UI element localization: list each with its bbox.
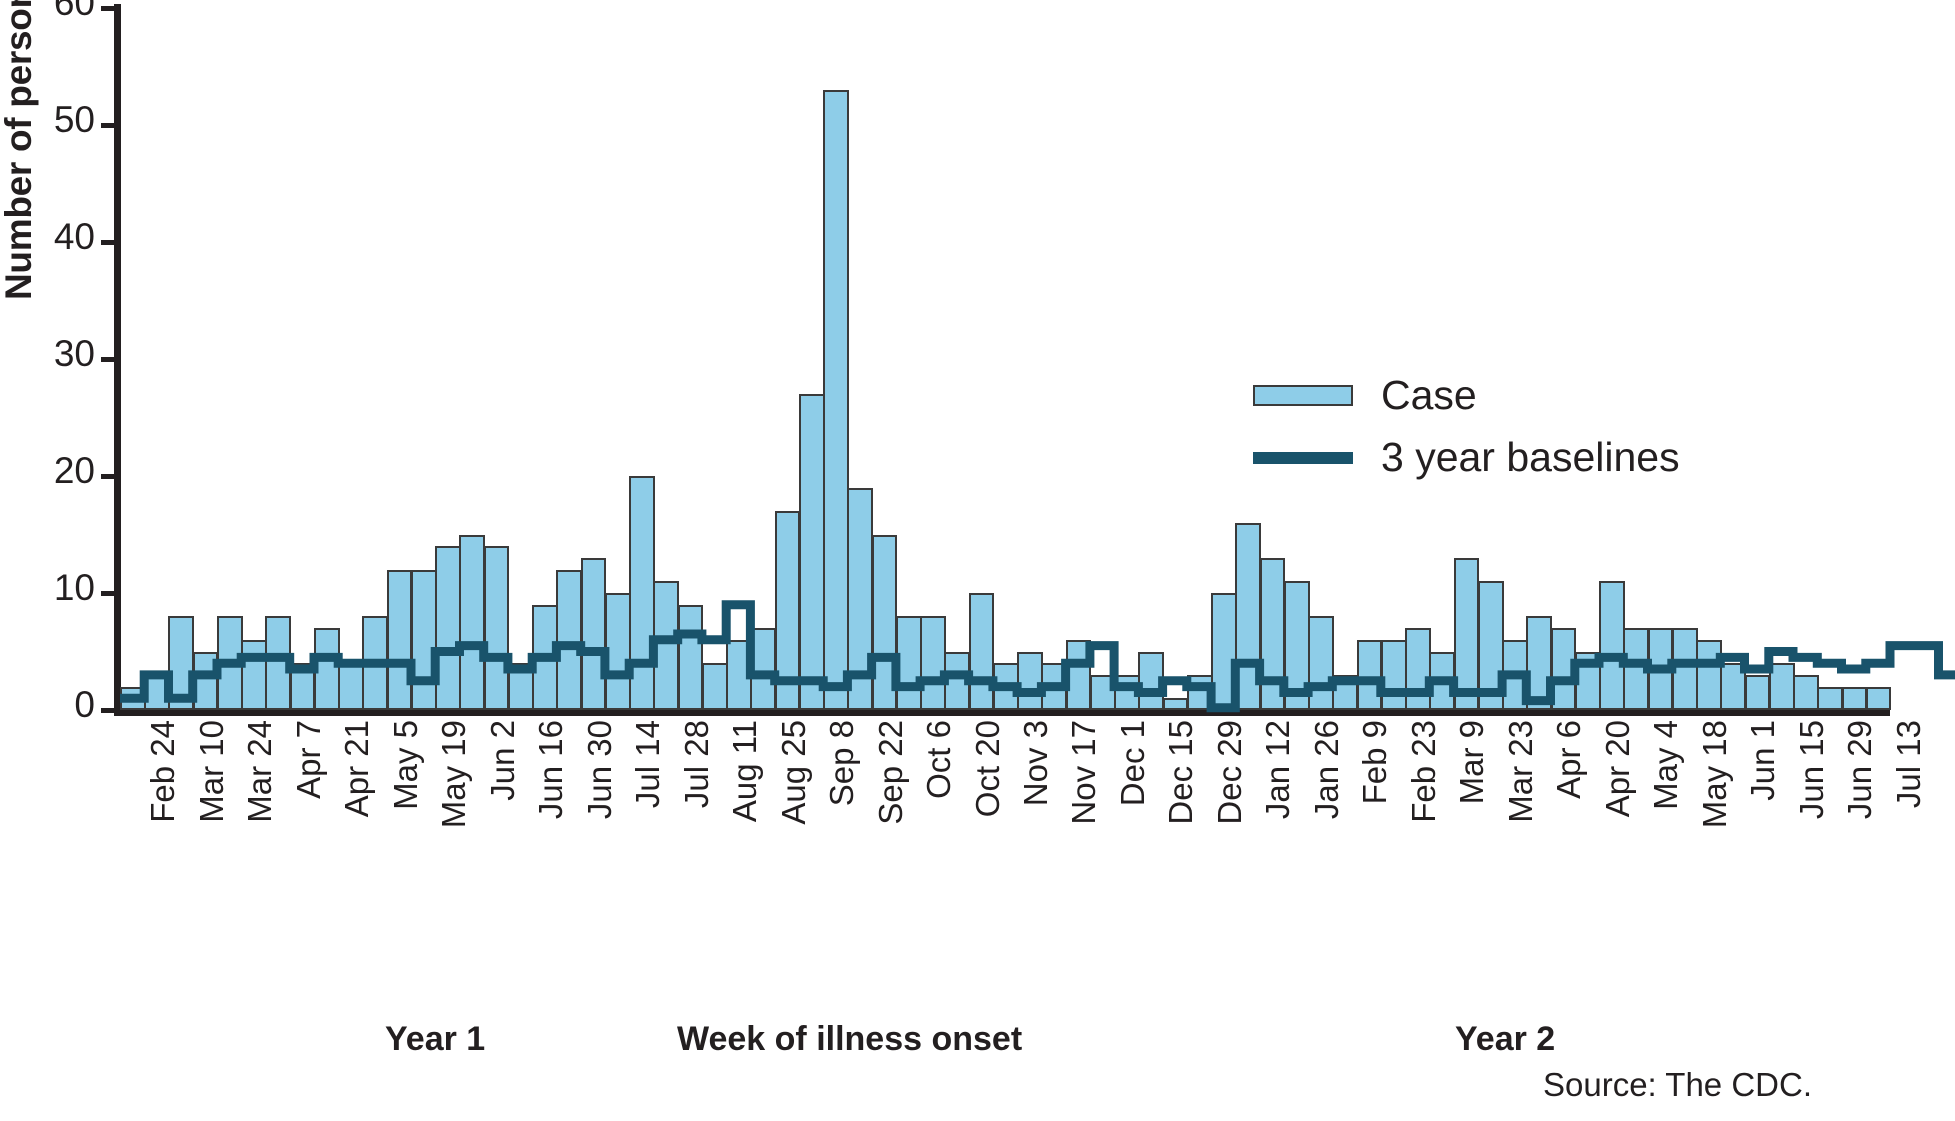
x-axis-tick-label-text: May 4 xyxy=(1647,720,1685,810)
x-axis-tick-label-text: Apr 20 xyxy=(1599,720,1637,817)
y-axis-tick-20: 20 xyxy=(54,450,95,492)
y-axis-tick-30: 30 xyxy=(54,333,95,375)
x-axis-tick-label: Mar 10 xyxy=(193,720,231,823)
x-axis-tick-label-text: Feb 9 xyxy=(1356,720,1394,804)
x-axis-tick-label-text: Jun 2 xyxy=(484,720,522,801)
x-axis-tick-label: Jun 15 xyxy=(1793,720,1831,819)
x-axis-tick-label-text: May 19 xyxy=(435,720,473,828)
x-axis-tick-label-text: May 5 xyxy=(387,720,425,810)
x-axis-tick-label-text: Mar 23 xyxy=(1502,720,1540,823)
x-axis-tick-label-text: Feb 24 xyxy=(144,720,182,823)
legend-label-case: Case xyxy=(1381,372,1477,419)
x-axis-tick-label-text: Jun 1 xyxy=(1744,720,1782,801)
x-axis-tick-label: Jun 16 xyxy=(532,720,570,819)
chart-legend: Case 3 year baselines xyxy=(1253,372,1723,488)
x-axis-tick-label: Nov 3 xyxy=(1017,720,1055,806)
x-axis-tick-label: Jul 13 xyxy=(1890,720,1928,808)
x-axis-tick-label-text: Aug 25 xyxy=(775,720,813,825)
x-axis-tick-label-text: May 18 xyxy=(1696,720,1734,828)
x-axis-tick-label: May 18 xyxy=(1696,720,1734,828)
chart-root: Number of persons 0102030405060 Feb 24Ma… xyxy=(0,0,1955,1121)
source-note: Source: The CDC. xyxy=(1543,1066,1812,1104)
x-axis-tick-label: Mar 9 xyxy=(1453,720,1491,804)
x-axis-tick-label: May 5 xyxy=(387,720,425,810)
x-axis-tick-label: Jun 29 xyxy=(1841,720,1879,819)
x-axis-tick-label: Nov 17 xyxy=(1065,720,1103,825)
x-axis-tick-label-text: Apr 7 xyxy=(290,720,328,799)
x-axis-tick-label: Dec 15 xyxy=(1162,720,1200,825)
x-axis-tick-label: Feb 24 xyxy=(144,720,182,823)
x-axis-tick-label-text: Oct 6 xyxy=(920,720,958,799)
y-axis-tick-0: 0 xyxy=(74,684,95,726)
legend-label-baselines: 3 year baselines xyxy=(1381,434,1680,481)
x-axis-tick-label-text: Dec 1 xyxy=(1114,720,1152,806)
y-axis-tick-60: 60 xyxy=(54,0,95,24)
legend-item-baselines[interactable]: 3 year baselines xyxy=(1253,434,1680,481)
plot-area xyxy=(120,8,1890,710)
x-axis-tick-label: Oct 6 xyxy=(920,720,958,799)
x-axis-tick-label: Apr 6 xyxy=(1550,720,1588,799)
x-axis-tick-label-text: Sep 8 xyxy=(823,720,861,806)
x-axis-tick-label: Apr 20 xyxy=(1599,720,1637,817)
x-axis-tick-label: Feb 9 xyxy=(1356,720,1394,804)
legend-swatch-bar-icon xyxy=(1253,385,1353,406)
y-axis-tickmark-0 xyxy=(101,708,115,713)
x-axis-tick-label: Oct 20 xyxy=(969,720,1007,817)
x-axis-tick-label-text: Dec 29 xyxy=(1211,720,1249,825)
x-axis-tick-label: Feb 23 xyxy=(1405,720,1443,823)
y-axis-tick-10: 10 xyxy=(54,567,95,609)
x-axis-tick-label: Jul 14 xyxy=(629,720,667,808)
x-axis-tick-label-text: Jul 14 xyxy=(629,720,667,808)
x-axis-tick-label-text: Jan 26 xyxy=(1308,720,1346,819)
x-axis-tick-label-text: Apr 21 xyxy=(338,720,376,817)
caption-year-1: Year 1 xyxy=(385,1020,485,1059)
x-axis-tick-label: Jul 28 xyxy=(678,720,716,808)
y-axis-tickmark-40 xyxy=(101,240,115,245)
legend-swatch-line-icon xyxy=(1253,452,1353,464)
x-axis-tick-label: Jun 30 xyxy=(581,720,619,819)
x-axis-tick-label: May 4 xyxy=(1647,720,1685,810)
x-axis-tick-label-text: Apr 6 xyxy=(1550,720,1588,799)
x-axis-tick-label-text: Mar 10 xyxy=(193,720,231,823)
x-axis-tick-label-text: Mar 24 xyxy=(241,720,279,823)
x-axis-tick-label-text: Jun 16 xyxy=(532,720,570,819)
caption-year-2: Year 2 xyxy=(1455,1020,1555,1059)
y-axis-tickmark-30 xyxy=(101,357,115,362)
x-axis-tick-label-text: Jun 15 xyxy=(1793,720,1831,819)
x-axis-tick-label: Jan 26 xyxy=(1308,720,1346,819)
x-axis-tick-label: Aug 25 xyxy=(775,720,813,825)
x-axis-tick-label-text: Dec 15 xyxy=(1162,720,1200,825)
y-axis-tickmark-20 xyxy=(101,474,115,479)
x-axis-tick-label: Mar 23 xyxy=(1502,720,1540,823)
x-axis-tick-label: Mar 24 xyxy=(241,720,279,823)
x-axis-tick-label: Dec 29 xyxy=(1211,720,1249,825)
x-axis-tick-label: May 19 xyxy=(435,720,473,828)
x-axis-tick-label-text: Jun 29 xyxy=(1841,720,1879,819)
x-axis-tick-label: Dec 1 xyxy=(1114,720,1152,806)
x-axis-tick-label-text: Jan 12 xyxy=(1259,720,1297,819)
y-axis-tick-50: 50 xyxy=(54,99,95,141)
line-series-baselines xyxy=(120,8,1890,710)
x-axis-tick-label-text: Nov 3 xyxy=(1017,720,1055,806)
x-axis-tick-label: Apr 7 xyxy=(290,720,328,799)
y-axis-tick-40: 40 xyxy=(54,216,95,258)
x-axis-tick-label: Apr 21 xyxy=(338,720,376,817)
x-axis-tick-label-text: Sep 22 xyxy=(872,720,910,825)
x-axis-tick-label-text: Jul 28 xyxy=(678,720,716,808)
y-axis-tick-labels: 0102030405060 xyxy=(0,0,95,716)
x-axis-title: Week of illness onset xyxy=(677,1020,1022,1059)
x-axis-tick-labels: Feb 24Mar 10Mar 24Apr 7Apr 21May 5May 19… xyxy=(120,720,1890,895)
x-axis-tick-label: Jan 12 xyxy=(1259,720,1297,819)
y-axis-tickmark-60 xyxy=(101,6,115,11)
x-axis-tick-label: Sep 22 xyxy=(872,720,910,825)
y-axis-tickmark-50 xyxy=(101,123,115,128)
x-axis-tick-label: Jun 1 xyxy=(1744,720,1782,801)
x-axis-tick-label: Sep 8 xyxy=(823,720,861,806)
legend-item-case[interactable]: Case xyxy=(1253,372,1477,419)
x-axis-tick-label: Aug 11 xyxy=(726,720,764,822)
x-axis-tick-label-text: Jun 30 xyxy=(581,720,619,819)
y-axis-tickmark-10 xyxy=(101,591,115,596)
x-axis-tick-label: Jun 2 xyxy=(484,720,522,801)
x-axis-tick-label-text: Jul 13 xyxy=(1890,720,1928,808)
x-axis-tick-label-text: Feb 23 xyxy=(1405,720,1443,823)
x-axis-tick-label-text: Oct 20 xyxy=(969,720,1007,817)
x-axis-tick-label-text: Mar 9 xyxy=(1453,720,1491,804)
x-axis-tick-label-text: Aug 11 xyxy=(726,720,764,822)
x-axis-tick-label-text: Nov 17 xyxy=(1065,720,1103,825)
